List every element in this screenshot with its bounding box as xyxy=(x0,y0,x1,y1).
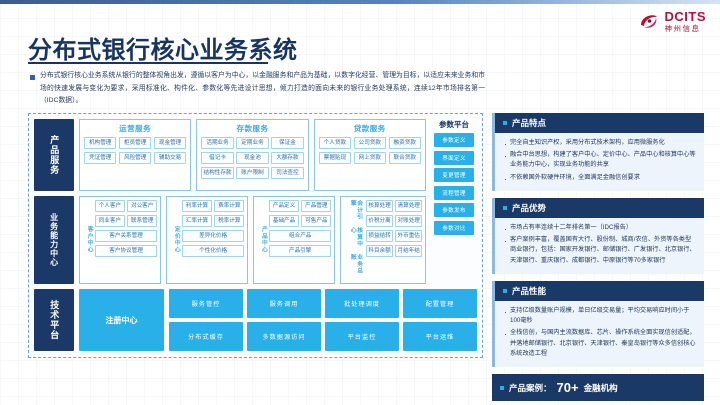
capability-cell[interactable]: 月结年结 xyxy=(395,245,422,257)
capability-cell[interactable]: 利率计算 xyxy=(182,200,212,212)
service-cell[interactable]: 辅助交易 xyxy=(154,152,186,164)
tech-cell[interactable]: 分布式缓存 xyxy=(169,322,243,351)
feature-item: 完全自主知识产权，采用分布式技术架构，应用微服务化 xyxy=(503,138,696,148)
product-case-bar: 产品案例： 70+ 金融机构 xyxy=(492,374,704,401)
service-cell[interactable]: 账户限制 xyxy=(236,167,268,179)
intro-paragraph: 分布式银行核心业务系统从银行的整体视角出发，遵循以客户为中心，以金融服务和产品为… xyxy=(40,70,485,108)
group-title-deposit: 存款服务 xyxy=(201,123,303,134)
service-cell[interactable]: 凭证管理 xyxy=(84,152,116,164)
service-cell[interactable]: 结构性存款 xyxy=(201,167,233,179)
group-product-center[interactable]: 产品中心 产品定义 产品管理 基础产品 可售产品 组合产品 产品引擎 xyxy=(253,196,335,284)
logo-cn-text: 神州信息 xyxy=(665,25,707,33)
bullet-square-icon xyxy=(503,121,507,125)
group-deposit-service[interactable]: 存款服务 活期业务 定期业务 保证金 借记卡 现金池 大额存款 结构性存款 账户… xyxy=(196,119,308,191)
tech-cell[interactable]: 多数据源访问 xyxy=(247,322,321,351)
capability-cell[interactable]: 个人客户 xyxy=(95,200,125,212)
band-label-capability: 业务能力中心 xyxy=(34,196,74,284)
service-cell[interactable]: 票据贴现 xyxy=(319,152,351,164)
service-cell[interactable]: 定期业务 xyxy=(236,137,268,149)
band-label-product-service: 产品服务 xyxy=(34,119,74,191)
logo-en-text: DCITS xyxy=(665,10,707,23)
case-number: 70+ xyxy=(557,380,579,395)
card-title: 产品性能 xyxy=(512,285,546,297)
group-customer-center[interactable]: 客户中心 个人客户 对公客户 同业客户 联系管理 客户关系管理 客户协议管理 xyxy=(79,196,161,284)
side-label-customer-center: 客户中心 xyxy=(83,200,95,280)
band-tech-platform: 技术平台 注册中心 服务管控 服务调用 批处理调度 配置管理 分布式缓存 多数据… xyxy=(34,289,477,351)
capability-cell[interactable]: 核算处理 xyxy=(366,200,393,212)
case-label: 产品案例： xyxy=(509,382,552,394)
top-accent-rule xyxy=(0,0,720,4)
tech-registry-center[interactable]: 注册中心 xyxy=(79,289,164,351)
service-cell[interactable]: 个人贷款 xyxy=(319,137,351,149)
side-label-accounting-engine: 会计引擎 xyxy=(349,200,362,226)
card-product-features: 产品特点 完全自主知识产权，采用分布式技术架构，应用微服务化 融合中台思想，构建… xyxy=(492,113,704,191)
band-capability-center: 业务能力中心 客户中心 个人客户 对公客户 同业客户 联系管理 客户关系管理 xyxy=(34,196,477,284)
tech-cell[interactable]: 平台监控 xyxy=(325,322,399,351)
dcits-swirl-icon xyxy=(638,10,660,32)
capability-cell[interactable]: 同业客户 xyxy=(95,215,125,227)
tech-cell[interactable]: 平台运维 xyxy=(403,322,477,351)
capability-cell[interactable]: 产品引擎 xyxy=(269,245,331,257)
intro-block: 分布式银行核心业务系统从银行的整体视角出发，遵循以客户为中心，以金融服务和产品为… xyxy=(30,70,485,108)
card-product-advantages: 产品优势 市场占有率连续十二年排名第一（IDC报告） 客户案例丰富，覆盖国有大行… xyxy=(492,198,704,274)
capability-cell[interactable]: 税率计算 xyxy=(214,215,244,227)
param-button[interactable]: 参数定义 xyxy=(434,133,474,147)
capability-cell[interactable]: 清算处理 xyxy=(395,200,422,212)
tech-cell[interactable]: 配置管理 xyxy=(403,289,477,318)
capability-cell[interactable]: 产品定义 xyxy=(269,200,299,212)
param-button[interactable]: 变更管理 xyxy=(434,168,474,182)
card-header: 产品性能 xyxy=(495,281,704,301)
capability-cell[interactable]: 损益结转 xyxy=(366,230,393,242)
bullet-square-icon xyxy=(30,75,35,80)
service-cell[interactable]: 联合贷款 xyxy=(389,152,421,164)
card-body: 市场占有率连续十二年排名第一（IDC报告） 客户案例丰富，覆盖国有大行、股份制、… xyxy=(495,218,704,274)
capability-cell[interactable]: 基础产品 xyxy=(269,215,299,227)
tech-cell[interactable]: 服务调用 xyxy=(247,289,321,318)
capability-cell[interactable]: 对公客户 xyxy=(127,200,157,212)
title-underline xyxy=(28,62,268,64)
side-label-pricing-center: 定价中心 xyxy=(170,200,182,280)
service-cell[interactable]: 活期业务 xyxy=(201,137,233,149)
group-title-loan: 贷款服务 xyxy=(319,123,421,134)
slide-page: DCITS 神州信息 分布式银行核心业务系统 分布式银行核心业务系统从银行的整体… xyxy=(0,0,720,405)
capability-cell[interactable]: 可售产品 xyxy=(301,215,331,227)
tech-cell[interactable]: 服务管控 xyxy=(169,289,243,318)
side-label-product-center: 产品中心 xyxy=(257,200,269,280)
service-cell[interactable]: 借记卡 xyxy=(201,152,233,164)
capability-cell[interactable]: 产品管理 xyxy=(301,200,331,212)
card-title: 产品特点 xyxy=(512,117,546,129)
capability-cell[interactable]: 科目余额 xyxy=(366,245,393,257)
side-label-general-ledger: 业务总账 xyxy=(349,254,362,280)
service-cell[interactable]: 公司贷款 xyxy=(354,137,386,149)
feature-item: 融合中台思想，构建了客户中心、定价中心、产品中心和核算中心等业务能力中心，实现业… xyxy=(503,150,696,170)
capability-cell[interactable]: 汇率计算 xyxy=(182,215,212,227)
capability-cell[interactable]: 组合产品 xyxy=(269,230,331,242)
page-title: 分布式银行核心业务系统 xyxy=(28,30,298,65)
capability-cell[interactable]: 个性化价格 xyxy=(182,245,244,257)
performance-item: 全栈信创，与国内主流数据库、芯片、操作系统全面实现信创适配，并落地邮储银行、北京… xyxy=(503,328,696,359)
capability-cell[interactable]: 联系管理 xyxy=(127,215,157,227)
capability-cell[interactable]: 对账处理 xyxy=(395,215,422,227)
parameter-platform-title: 参数平台 xyxy=(439,119,469,130)
capability-cell[interactable]: 费率计算 xyxy=(214,200,244,212)
advantage-item: 市场占有率连续十二年排名第一（IDC报告） xyxy=(503,223,696,233)
card-header: 产品优势 xyxy=(495,198,704,218)
company-logo: DCITS 神州信息 xyxy=(638,10,707,33)
card-body: 完全自主知识产权，采用分布式技术架构，应用微服务化 融合中台思想，构建了客户中心… xyxy=(495,133,704,191)
service-cell[interactable]: 大额存款 xyxy=(271,152,303,164)
capability-cell[interactable]: 客户关系管理 xyxy=(95,230,157,242)
service-cell[interactable]: 现金管理 xyxy=(154,137,186,149)
side-label-accounting-core: 核算中心 xyxy=(349,227,362,253)
group-loan-service[interactable]: 贷款服务 个人贷款 公司贷款 融资贷款 票据贴现 网上贷款 联合贷款 xyxy=(314,119,426,191)
service-cell[interactable]: 机构管理 xyxy=(84,137,116,149)
service-cell[interactable]: 司法查控 xyxy=(271,167,303,179)
param-button[interactable]: 界面定义 xyxy=(434,151,474,165)
card-header: 产品特点 xyxy=(495,113,704,133)
service-cell[interactable]: 融资贷款 xyxy=(389,137,421,149)
capability-cell[interactable]: 价税分离 xyxy=(366,215,393,227)
service-cell[interactable]: 保证金 xyxy=(271,137,303,149)
band-label-tech-platform: 技术平台 xyxy=(34,289,74,351)
card-title: 产品优势 xyxy=(512,202,546,214)
bullet-square-icon xyxy=(503,289,507,293)
case-suffix: 金融机构 xyxy=(584,382,618,394)
architecture-panel: 产品服务 运营服务 机构管理 柜员管理 现金管理 凭证管理 风险管理 辅助交易 … xyxy=(28,113,483,358)
performance-item: 支持亿级数量账户规模，单日亿级交易量；平均交易响应时间小于100毫秒 xyxy=(503,306,696,326)
card-body: 支持亿级数量账户规模，单日亿级交易量；平均交易响应时间小于100毫秒 全栈信创，… xyxy=(495,301,704,367)
service-cell[interactable]: 风险管理 xyxy=(119,152,151,164)
capability-cell[interactable]: 外币重估 xyxy=(395,230,422,242)
group-accounting-center[interactable]: 会计引擎 核算中心 业务总账 核算处理 清算处理 价税分离 对账处理 损益结转 … xyxy=(340,196,426,284)
capability-cell[interactable]: 差异化价格 xyxy=(182,230,244,242)
group-operation-service[interactable]: 运营服务 机构管理 柜员管理 现金管理 凭证管理 风险管理 辅助交易 xyxy=(79,119,191,191)
bullet-square-icon xyxy=(500,386,504,390)
right-info-column: 产品特点 完全自主知识产权，采用分布式技术架构，应用微服务化 融合中台思想，构建… xyxy=(492,113,704,401)
capability-cell[interactable]: 客户协议管理 xyxy=(95,245,157,257)
advantage-item: 客户案例丰富，覆盖国有大行、股份制、城商/农信、外资等各类型商业银行，包括：国家… xyxy=(503,235,696,266)
group-pricing-center[interactable]: 定价中心 利率计算 费率计算 汇率计算 税率计算 差异化价格 个性化价格 xyxy=(166,196,248,284)
service-cell[interactable]: 柜员管理 xyxy=(119,137,151,149)
service-cell[interactable]: 网上贷款 xyxy=(354,152,386,164)
card-product-performance: 产品性能 支持亿级数量账户规模，单日亿级交易量；平均交易响应时间小于100毫秒 … xyxy=(492,281,704,367)
side-label-accounting-center: 会计引擎 核算中心 业务总账 xyxy=(344,200,366,280)
parameter-platform: 参数平台 参数定义 界面定义 变更管理 流程管理 参数发布 参数对比 xyxy=(431,119,477,191)
band-product-service: 产品服务 运营服务 机构管理 柜员管理 现金管理 凭证管理 风险管理 辅助交易 … xyxy=(34,119,477,191)
group-title-operation: 运营服务 xyxy=(84,123,186,134)
service-cell[interactable]: 现金池 xyxy=(236,152,268,164)
tech-cell[interactable]: 批处理调度 xyxy=(325,289,399,318)
feature-item: 不依赖国外软硬件环境，全面满足金融信创要求 xyxy=(503,173,696,183)
bullet-square-icon xyxy=(503,206,507,210)
